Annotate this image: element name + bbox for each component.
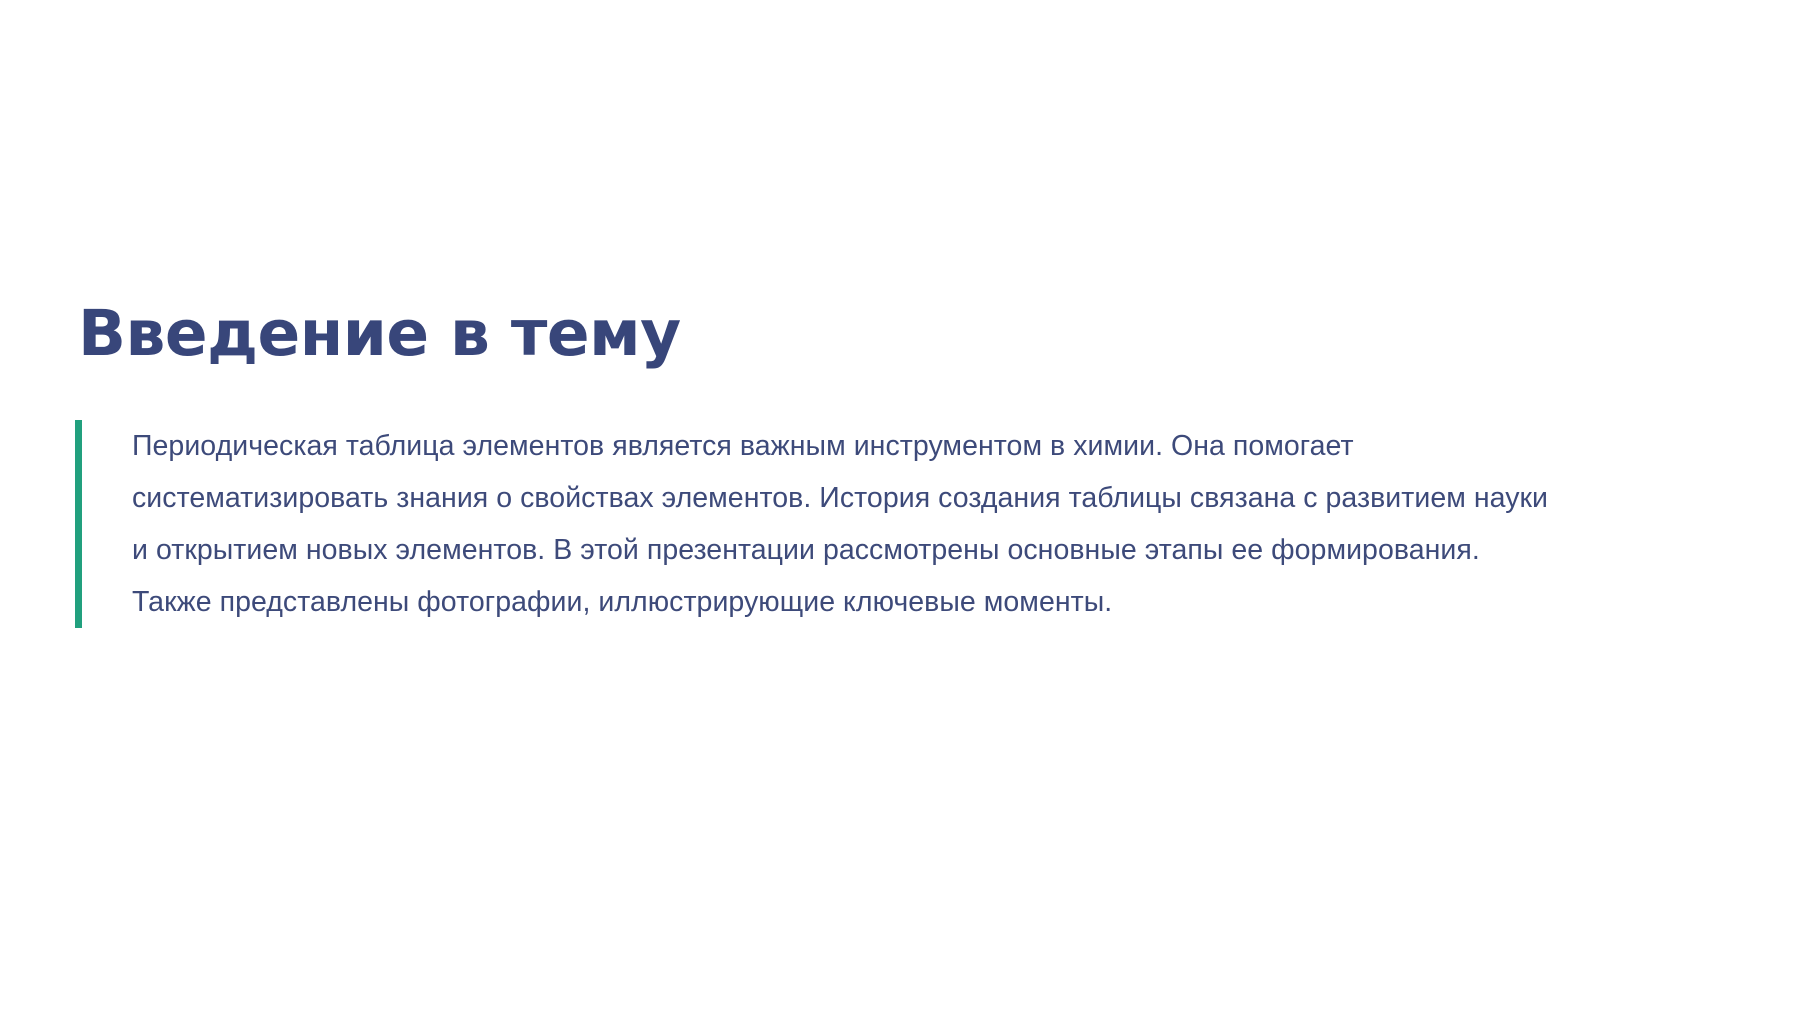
- body-paragraph: Периодическая таблица элементов является…: [132, 420, 1552, 628]
- page-title: Введение в тему: [75, 300, 1735, 368]
- left-accent-bar: [75, 420, 82, 628]
- presentation-slide: Введение в тему Периодическая таблица эл…: [0, 0, 1800, 1013]
- body-text-block: Периодическая таблица элементов является…: [75, 420, 1735, 628]
- slide-content-area: Введение в тему Периодическая таблица эл…: [75, 300, 1735, 628]
